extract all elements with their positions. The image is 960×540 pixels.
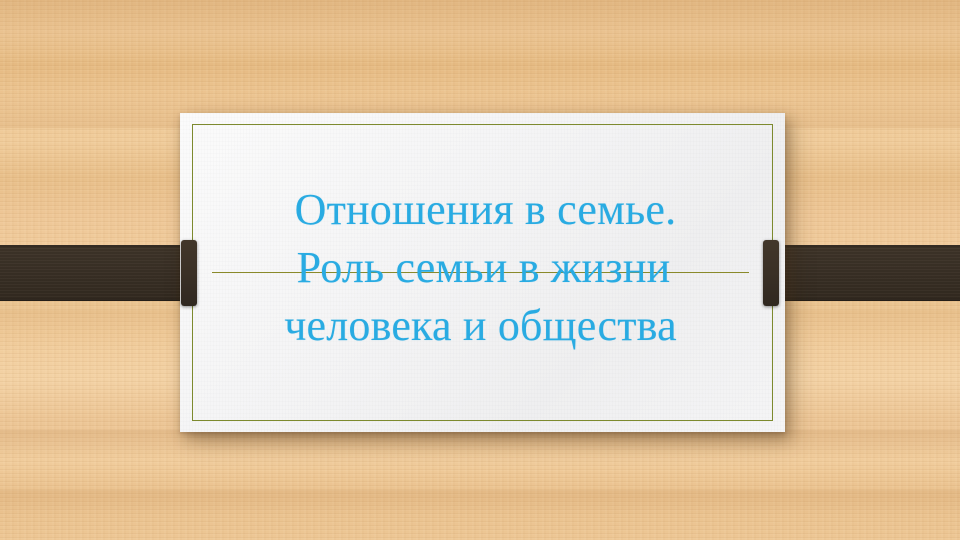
title-card: Отношения в семье. Роль семьи в жизни че… [180, 113, 785, 432]
title-line-3: человека и общества [176, 297, 785, 355]
ribbon-tab-left [181, 240, 197, 306]
title-line-1: Отношения в семье. [186, 181, 785, 239]
presentation-slide: Отношения в семье. Роль семьи в жизни че… [0, 0, 960, 540]
title-line-2: Роль семьи в жизни [182, 239, 785, 297]
ribbon-tab-right [763, 240, 779, 306]
slide-title: Отношения в семье. Роль семьи в жизни че… [180, 181, 785, 355]
